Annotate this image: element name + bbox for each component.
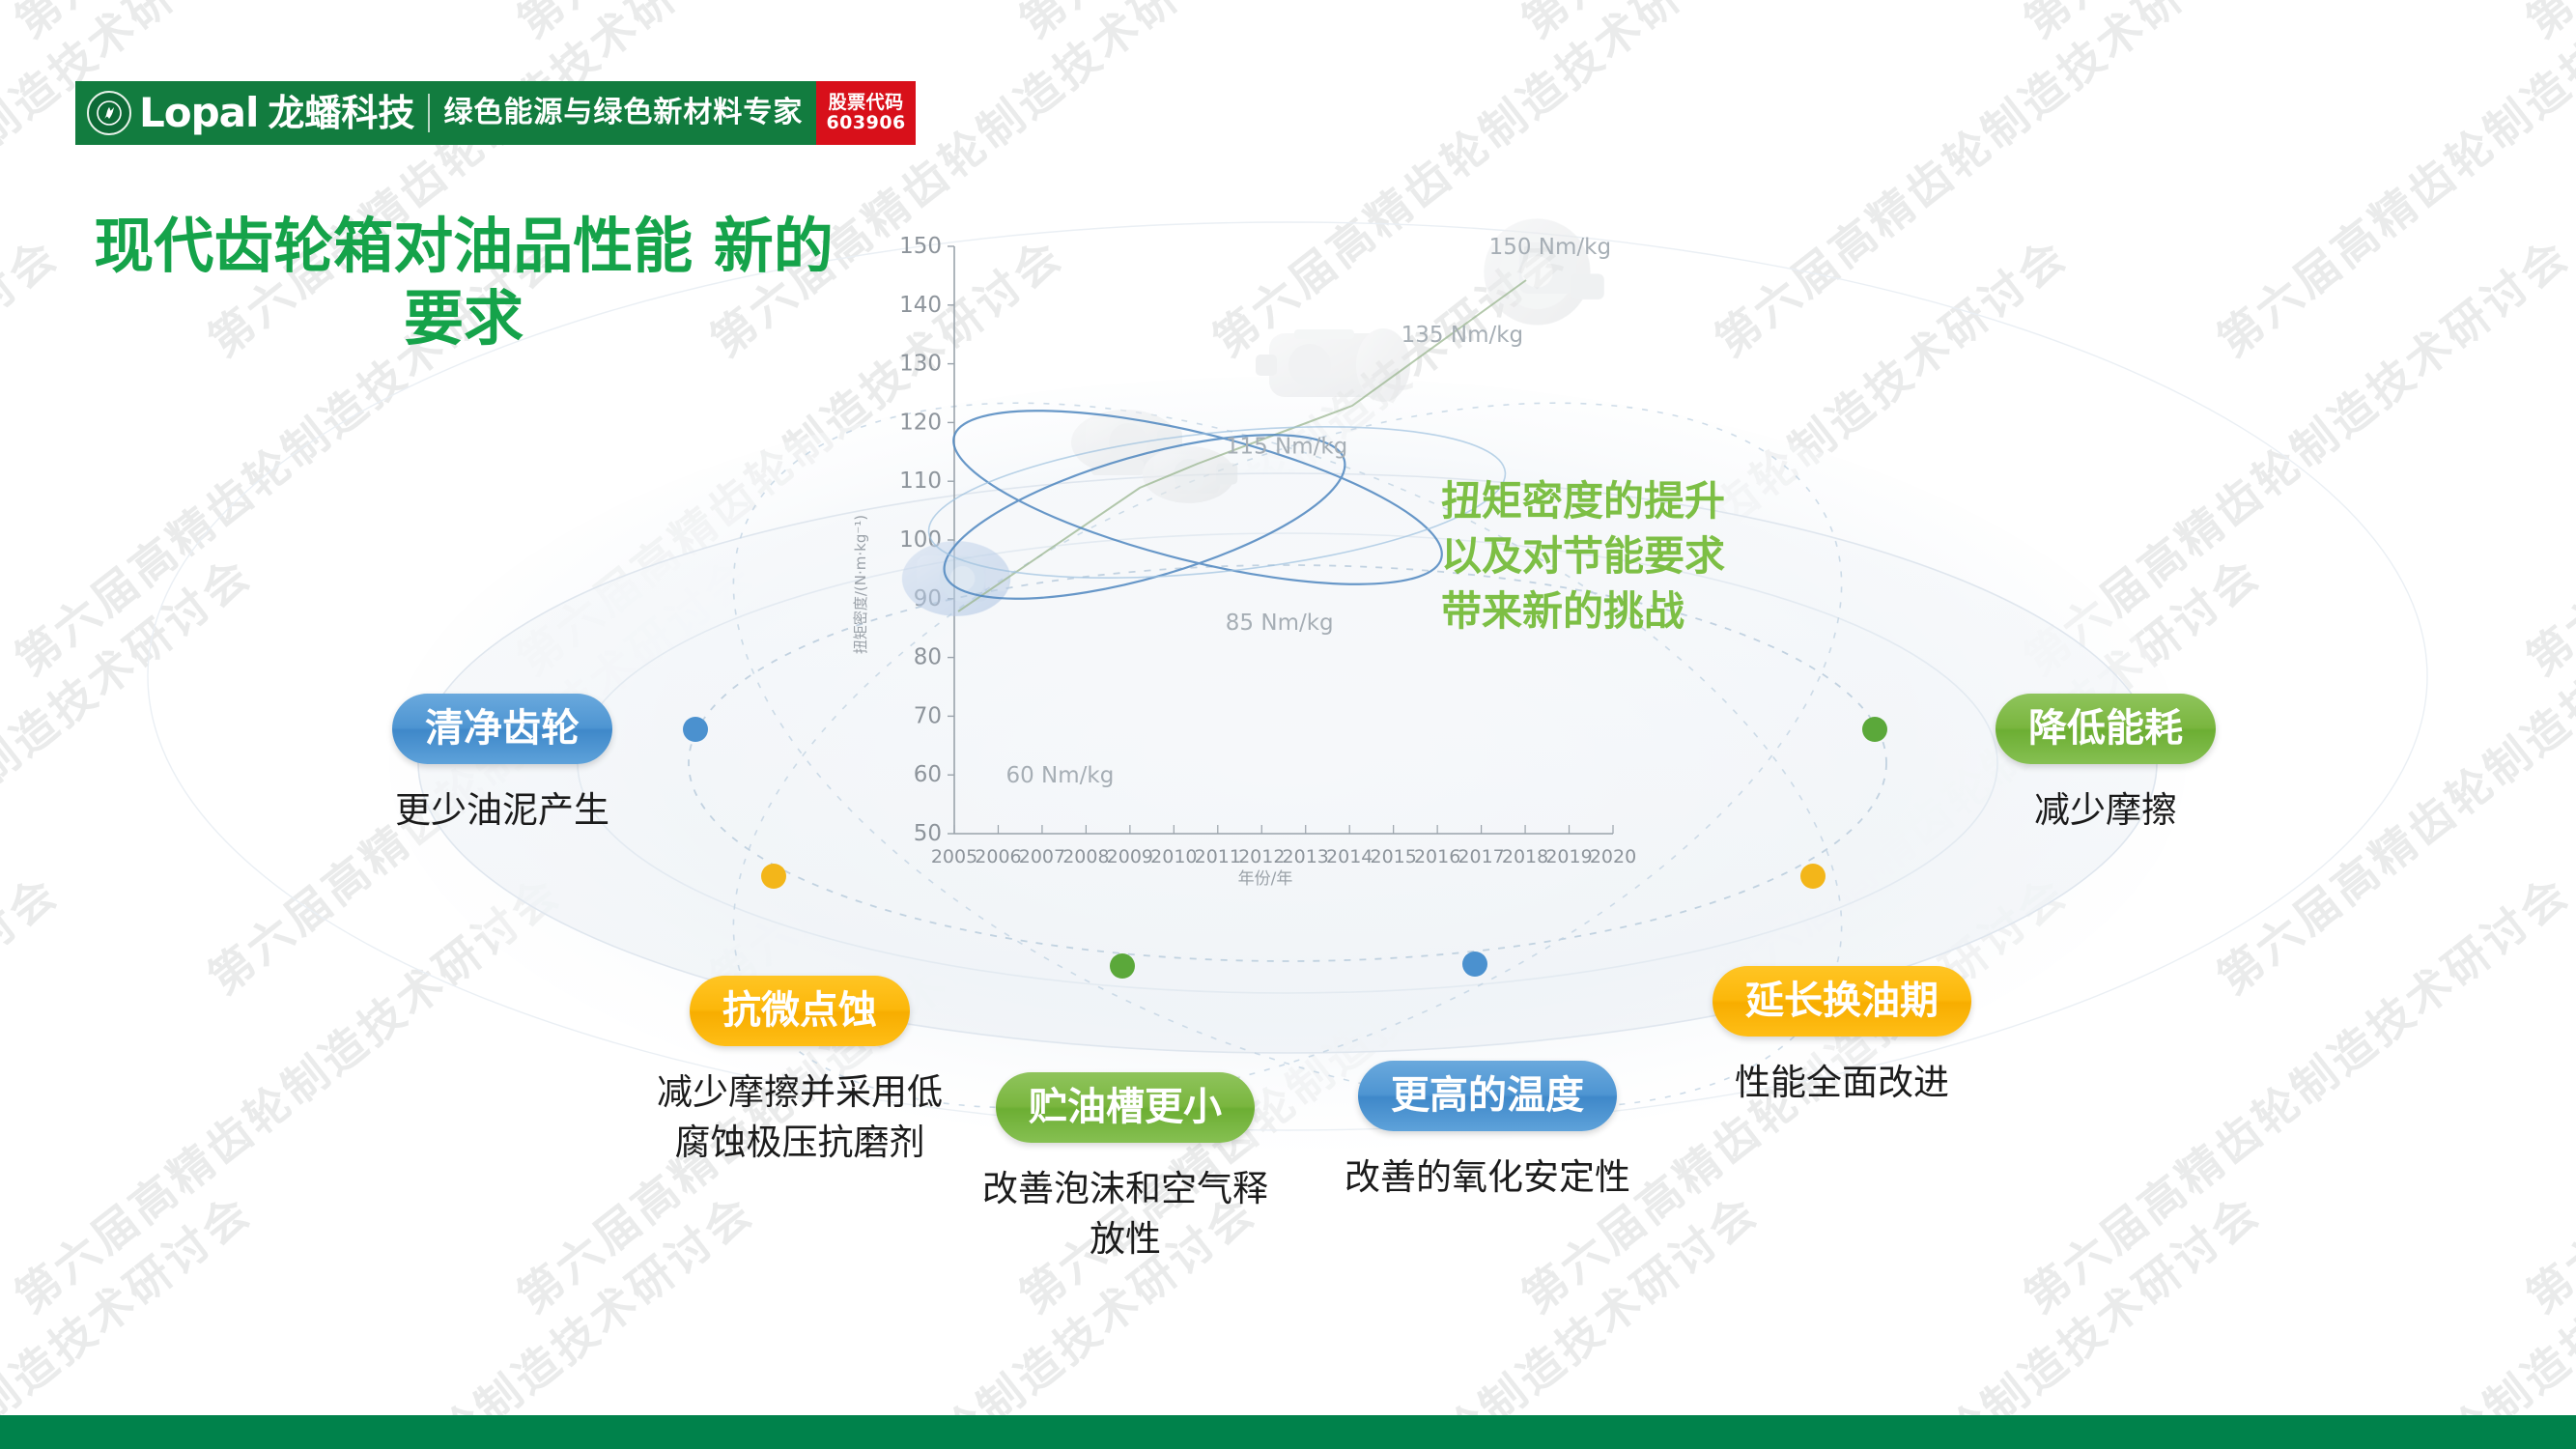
chart-y-tick: 70 xyxy=(914,703,942,728)
stock-code-badge: 股票代码 603906 xyxy=(816,81,915,145)
stock-code-number: 603906 xyxy=(826,113,905,133)
feature-pill-longer-drain[interactable]: 延长换油期 xyxy=(1713,966,1971,1037)
watermark-text: 第六届高精齿轮制造技术研讨会 xyxy=(193,1178,765,1449)
watermark-text: 第六届高精齿轮制造技术研讨会 xyxy=(0,0,572,50)
feature-desc-smaller-sump: 改善泡沫和空气释 放性 xyxy=(982,1164,1268,1265)
chart-x-axis-label: 年份/年 xyxy=(1238,869,1293,889)
brand-name-cn: 龙蟠科技 xyxy=(268,95,414,131)
feature-pill-smaller-sump[interactable]: 贮油槽更小 xyxy=(996,1072,1255,1143)
feature-node-higher-temp[interactable]: 更高的温度改善的氧化安定性 xyxy=(1323,1061,1652,1203)
footer-bar xyxy=(0,1415,2576,1449)
chart-y-axis-label: 扭矩密度/(N·m·kg⁻¹) xyxy=(852,515,869,654)
brand-tagline: 绿色能源与绿色新材料专家 xyxy=(443,99,803,128)
chart-y-tick: 110 xyxy=(899,469,942,494)
watermark-text: 第六届高精齿轮制造技术研讨会 xyxy=(0,1178,263,1449)
chart-x-tick-labels: 2005200620072008200920102011201220132014… xyxy=(931,825,1636,867)
orbit-node-dot xyxy=(683,717,708,742)
watermark-text: 第六届高精齿轮制造技术研讨会 xyxy=(0,859,70,1325)
feature-node-longer-drain[interactable]: 延长换油期性能全面改进 xyxy=(1683,966,2001,1108)
feature-desc-clean-gear: 更少油泥产生 xyxy=(395,785,609,837)
page-title: 现代齿轮箱对油品性能 新的要求 xyxy=(68,210,860,355)
watermark-text: 第六届高精齿轮制造技术研讨会 xyxy=(2009,859,2576,1325)
feature-pill-micropitting[interactable]: 抗微点蚀 xyxy=(690,976,910,1046)
feature-node-low-energy[interactable]: 降低能耗减少摩擦 xyxy=(1961,694,2250,836)
chart-x-tick: 2008 xyxy=(1062,846,1109,867)
watermark-text: 第六届高精齿轮制造技术研讨会 xyxy=(2511,0,2576,50)
chart-y-tick: 80 xyxy=(914,645,942,670)
chart-x-tick: 2005 xyxy=(931,846,977,867)
chart-x-tick: 2016 xyxy=(1414,846,1460,867)
chart-annotation-label: 85 Nm/kg xyxy=(1226,611,1334,636)
chart-annotation-label: 150 Nm/kg xyxy=(1489,235,1612,260)
chart-x-tick: 2015 xyxy=(1370,846,1416,867)
chart-annotation-label: 135 Nm/kg xyxy=(1401,323,1524,348)
chart-x-tick: 2019 xyxy=(1545,846,1592,867)
watermark-text: 第六届高精齿轮制造技术研讨会 xyxy=(502,0,1074,50)
feature-desc-higher-temp: 改善的氧化安定性 xyxy=(1345,1152,1630,1204)
chart-x-tick: 2011 xyxy=(1195,846,1241,867)
chart-y-tick: 140 xyxy=(899,293,942,318)
chart-x-tick: 2013 xyxy=(1283,846,1329,867)
watermark-text: 第六届高精齿轮制造技术研讨会 xyxy=(2511,221,2576,688)
feature-node-clean-gear[interactable]: 清净齿轮更少油泥产生 xyxy=(357,694,647,836)
orbit-node-dot xyxy=(1800,864,1826,889)
watermark-text: 第六届高精齿轮制造技术研讨会 xyxy=(2009,0,2576,50)
watermark-text: 第六届高精齿轮制造技术研讨会 xyxy=(2511,859,2576,1325)
feature-desc-low-energy: 减少摩擦 xyxy=(2034,785,2177,837)
brand-logo-bar: Lopal 龙蟠科技 绿色能源与绿色新材料专家 股票代码 603906 xyxy=(75,81,916,145)
watermark-text: 第六届高精齿轮制造技术研讨会 xyxy=(2202,540,2576,1007)
watermark-text: 第六届高精齿轮制造技术研讨会 xyxy=(2009,221,2576,688)
chart-orbit-ribbons-light xyxy=(921,403,1513,602)
chart-orbit-ribbons xyxy=(928,375,1457,633)
watermark-text: 第六届高精齿轮制造技术研讨会 xyxy=(2202,1178,2576,1449)
lopal-swirl-icon xyxy=(87,91,131,135)
chart-y-tick: 60 xyxy=(914,762,942,787)
chart-x-tick: 2007 xyxy=(1019,846,1065,867)
chart-y-tick: 120 xyxy=(899,410,942,435)
chart-y-tick-labels: 5060708090100110120130140150 xyxy=(899,234,954,846)
feature-pill-higher-temp[interactable]: 更高的温度 xyxy=(1358,1061,1617,1131)
watermark-text: 第六届高精齿轮制造技术研讨会 xyxy=(1507,0,2079,50)
orbit-node-dot xyxy=(1462,952,1487,977)
feature-pill-clean-gear[interactable]: 清净齿轮 xyxy=(392,694,612,764)
watermark-text: 第六届高精齿轮制造技术研讨会 xyxy=(0,221,70,688)
feature-pill-low-energy[interactable]: 降低能耗 xyxy=(1996,694,2216,764)
brand-divider xyxy=(428,94,430,132)
orbit-node-dot xyxy=(761,864,786,889)
feature-node-smaller-sump[interactable]: 贮油槽更小改善泡沫和空气释 放性 xyxy=(966,1072,1285,1265)
chart-x-tick: 2018 xyxy=(1502,846,1548,867)
callout-text: 扭矩密度的提升 以及对节能要求 带来新的挑战 xyxy=(1441,473,1725,639)
feature-node-micropitting[interactable]: 抗微点蚀减少摩擦并采用低 腐蚀极压抗磨剂 xyxy=(626,976,974,1169)
slide-canvas: 第六届高精齿轮制造技术研讨会第六届高精齿轮制造技术研讨会第六届高精齿轮制造技术研… xyxy=(0,0,2576,1449)
chart-x-tick: 2014 xyxy=(1326,846,1373,867)
chart-y-tick: 50 xyxy=(914,821,942,846)
watermark-text: 第六届高精齿轮制造技术研讨会 xyxy=(0,0,70,50)
feature-desc-micropitting: 减少摩擦并采用低 腐蚀极压抗磨剂 xyxy=(657,1067,943,1169)
chart-x-tick: 2009 xyxy=(1107,846,1153,867)
watermark-text: 第六届高精齿轮制造技术研讨会 xyxy=(2202,0,2576,369)
watermark-text: 第六届高精齿轮制造技术研讨会 xyxy=(0,859,572,1325)
chart-x-tick: 2017 xyxy=(1458,846,1504,867)
chart-y-tick: 130 xyxy=(899,352,942,377)
orbit-node-dot xyxy=(1862,717,1887,742)
brand-wordmark: Lopal xyxy=(139,93,258,133)
watermark-text: 第六届高精齿轮制造技术研讨会 xyxy=(1005,0,1576,50)
watermark-text: 第六届高精齿轮制造技术研讨会 xyxy=(0,540,263,1007)
chart-x-tick: 2010 xyxy=(1150,846,1197,867)
chart-y-tick: 150 xyxy=(899,234,942,259)
orbit-node-dot xyxy=(1110,953,1135,979)
watermark-text: 第六届高精齿轮制造技术研讨会 xyxy=(1700,0,2272,369)
brand-logo-green-panel: Lopal 龙蟠科技 绿色能源与绿色新材料专家 xyxy=(75,81,816,145)
chart-annotation-label: 60 Nm/kg xyxy=(1005,763,1114,788)
watermark-text: 第六届高精齿轮制造技术研讨会 xyxy=(1700,1178,2272,1449)
chart-x-tick: 2020 xyxy=(1590,846,1636,867)
chart-x-tick: 2012 xyxy=(1238,846,1285,867)
chart-annotation-label: 115 Nm/kg xyxy=(1226,435,1348,460)
stock-code-label: 股票代码 xyxy=(829,93,904,113)
feature-desc-longer-drain: 性能全面改进 xyxy=(1735,1058,1949,1109)
chart-x-tick: 2006 xyxy=(975,846,1021,867)
